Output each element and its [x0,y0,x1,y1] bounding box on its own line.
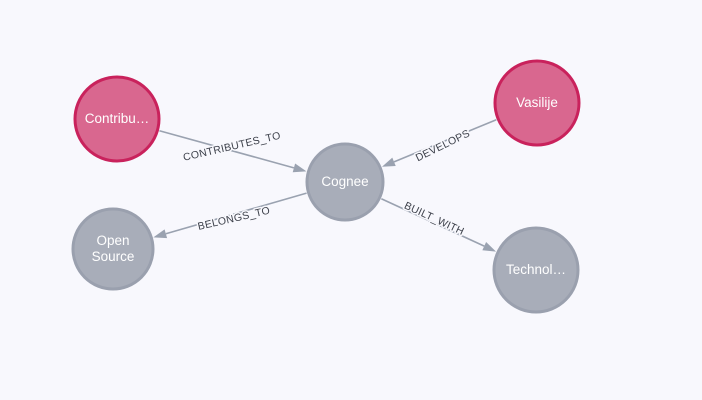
edge-label-develops: DEVELOPS [414,127,472,164]
edge-arrowhead-develops [382,158,396,167]
edge-arrowhead-built-with [482,242,496,252]
edge-label-built-with: BUILT_WITH [402,200,466,238]
graph-canvas[interactable]: CONTRIBUTES_TODEVELOPSBELONGS_TOBUILT_WI… [0,0,702,400]
edge-label-contributes-to: CONTRIBUTES_TO [182,130,282,164]
edge-label-belongs-to: BELONGS_TO [197,205,272,233]
node-circle-vasilije[interactable] [495,61,579,145]
graph-node-vasilije[interactable]: Vasilije [495,61,579,145]
node-circle-technology[interactable] [494,228,578,312]
node-circle-cognee[interactable] [307,144,383,220]
nodes-layer: Contribu…VasilijeCogneeOpenSourceTechnol… [73,61,579,312]
graph-visualization[interactable]: CONTRIBUTES_TODEVELOPSBELONGS_TOBUILT_WI… [0,0,702,400]
node-circle-open-source[interactable] [73,209,153,289]
node-circle-contributor[interactable] [75,77,159,161]
graph-node-technology[interactable]: Technol… [494,228,578,312]
graph-node-contributor[interactable]: Contribu… [75,77,159,161]
edge-arrowhead-belongs-to [153,229,167,238]
graph-node-cognee[interactable]: Cognee [307,144,383,220]
graph-node-open-source[interactable]: OpenSource [73,209,153,289]
edge-arrowhead-contributes-to [293,164,307,173]
